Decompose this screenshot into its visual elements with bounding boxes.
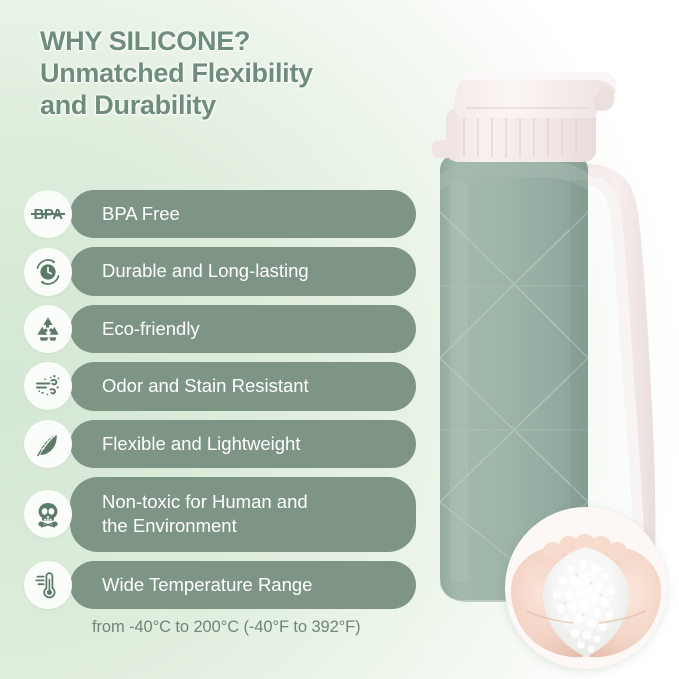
feather-icon <box>24 420 72 468</box>
silicone-bottle-infographic: WHY SILICONE? Unmatched Flexibility and … <box>0 0 679 679</box>
feature-item-flexible-lightweight[interactable]: Flexible and Lightweight <box>24 420 416 468</box>
feature-label: Wide Temperature Range <box>102 573 312 597</box>
clock-durability-icon <box>24 248 72 296</box>
feature-item-non-toxic[interactable]: Non-toxic for Human and the Environment <box>24 477 416 552</box>
feature-pill: Flexible and Lightweight <box>70 420 416 468</box>
feature-list: BPA BPA Free <box>24 190 416 637</box>
feature-item-odor-resistant[interactable]: Odor and Stain Resistant <box>24 362 416 410</box>
feature-item-temperature-range[interactable]: Wide Temperature Range <box>24 561 416 609</box>
feature-label: Flexible and Lightweight <box>102 432 301 456</box>
thermometer-icon <box>24 561 72 609</box>
feature-pill: Non-toxic for Human and the Environment <box>70 477 416 552</box>
page-title: WHY SILICONE? Unmatched Flexibility and … <box>40 26 440 122</box>
feature-pill: Eco-friendly <box>70 305 416 353</box>
title-line-2: Unmatched Flexibility <box>40 58 440 90</box>
bpa-free-icon: BPA <box>24 190 72 238</box>
title-line-1: WHY SILICONE? <box>40 26 440 58</box>
feature-label: Odor and Stain Resistant <box>102 374 309 398</box>
bottle-lid <box>454 72 616 118</box>
skull-crossbones-icon <box>24 490 72 538</box>
feature-label: Durable and Long-lasting <box>102 259 309 283</box>
feature-pill: Odor and Stain Resistant <box>70 362 416 410</box>
feature-label-line-2: the Environment <box>102 514 308 538</box>
temperature-range-caption: from -40°C to 200°C (-40°F to 392°F) <box>92 618 416 637</box>
feature-item-bpa-free[interactable]: BPA BPA Free <box>24 190 416 238</box>
feature-label: BPA Free <box>102 202 180 226</box>
feature-item-durable[interactable]: Durable and Long-lasting <box>24 247 416 295</box>
feature-pill: BPA Free <box>70 190 416 238</box>
feature-pill: Durable and Long-lasting <box>70 247 416 295</box>
recycle-icon <box>24 305 72 353</box>
feature-label-line-1: Non-toxic for Human and <box>102 490 308 514</box>
bpa-icon-label: BPA <box>33 206 62 223</box>
silicone-pellets-inset <box>505 507 667 669</box>
title-line-3: and Durability <box>40 90 440 122</box>
feature-pill: Wide Temperature Range <box>70 561 416 609</box>
feature-item-eco-friendly[interactable]: Eco-friendly <box>24 305 416 353</box>
wind-odor-icon <box>24 362 72 410</box>
feature-label: Eco-friendly <box>102 317 200 341</box>
